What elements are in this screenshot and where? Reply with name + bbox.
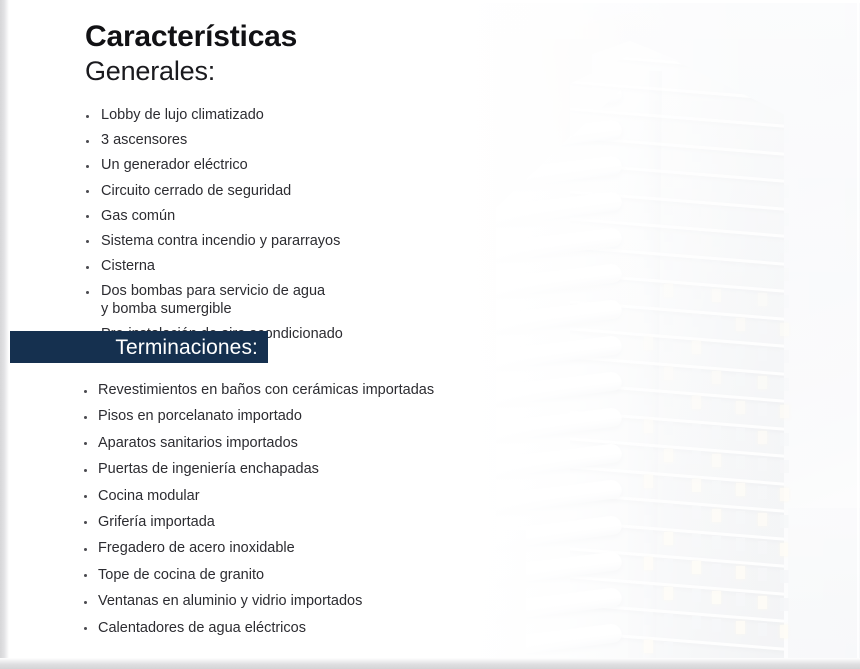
finish-item: Revestimientos en baños con cerámicas im… (84, 382, 514, 399)
general-feature-item: Dos bombas para servicio de aguay bomba … (86, 283, 506, 318)
bullet-dot-icon (84, 469, 87, 472)
bullet-dot-icon (86, 115, 89, 118)
general-feature-label: 3 ascensores (101, 132, 506, 150)
content-column: Características Generales: Lobby de lujo… (0, 0, 540, 669)
finish-label: Pisos en porcelanato importado (98, 408, 514, 425)
bullet-dot-icon (84, 495, 87, 498)
page-title: Características Generales: (85, 22, 297, 85)
general-feature-item: Un generador eléctrico (86, 157, 506, 175)
general-feature-label: Dos bombas para servicio de aguay bomba … (101, 283, 506, 318)
finish-item: Calentadores de agua eléctricos (84, 620, 514, 637)
bullet-dot-icon (84, 442, 87, 445)
finish-label: Revestimientos en baños con cerámicas im… (98, 382, 514, 399)
finish-label: Calentadores de agua eléctricos (98, 620, 514, 637)
finish-item: Aparatos sanitarios importados (84, 435, 514, 452)
slide-edge-top (0, 0, 860, 3)
brochure-slide: Características Generales: Lobby de lujo… (0, 0, 860, 669)
general-feature-item: Lobby de lujo climatizado (86, 107, 506, 125)
bullet-dot-icon (84, 627, 87, 630)
bullet-dot-icon (84, 521, 87, 524)
finish-item: Tope de cocina de granito (84, 567, 514, 584)
finish-item: Cocina modular (84, 488, 514, 505)
bullet-dot-icon (84, 548, 87, 551)
general-feature-item: 3 ascensores (86, 132, 506, 150)
slide-edge-left (0, 0, 9, 669)
bullet-dot-icon (84, 601, 87, 604)
bullet-dot-icon (86, 140, 89, 143)
finishes-section-banner: Terminaciones: (10, 331, 268, 363)
finish-label: Cocina modular (98, 488, 514, 505)
general-feature-label: Cisterna (101, 258, 506, 276)
bullet-dot-icon (84, 390, 87, 393)
finish-item: Pisos en porcelanato importado (84, 408, 514, 425)
general-feature-item: Sistema contra incendio y pararrayos (86, 233, 506, 251)
page-title-line-2: Generales: (85, 58, 297, 85)
bullet-dot-icon (86, 190, 89, 193)
finish-item: Grifería importada (84, 514, 514, 531)
general-feature-label: Lobby de lujo climatizado (101, 107, 506, 125)
finish-label: Fregadero de acero inoxidable (98, 540, 514, 557)
general-feature-label: Sistema contra incendio y pararrayos (101, 233, 506, 251)
general-feature-label: Circuito cerrado de seguridad (101, 183, 506, 201)
finish-item: Ventanas en aluminio y vidrio importados (84, 593, 514, 610)
bullet-dot-icon (84, 416, 87, 419)
finish-label: Tope de cocina de granito (98, 567, 514, 584)
finish-item: Puertas de ingeniería enchapadas (84, 461, 514, 478)
bullet-dot-icon (86, 215, 89, 218)
page-title-line-1: Características (85, 22, 297, 52)
general-feature-item: Circuito cerrado de seguridad (86, 183, 506, 201)
image-right-highlight (857, 3, 859, 658)
finish-label: Aparatos sanitarios importados (98, 435, 514, 452)
general-features-list: Lobby de lujo climatizado3 ascensoresUn … (86, 107, 506, 351)
bullet-dot-icon (84, 574, 87, 577)
bullet-dot-icon (86, 165, 89, 168)
bullet-dot-icon (86, 291, 89, 294)
finish-item: Fregadero de acero inoxidable (84, 540, 514, 557)
general-feature-item: Gas común (86, 208, 506, 226)
finishes-list: Revestimientos en baños con cerámicas im… (84, 382, 514, 646)
general-feature-label: Gas común (101, 208, 506, 226)
general-feature-label: Un generador eléctrico (101, 157, 506, 175)
general-feature-item: Cisterna (86, 258, 506, 276)
finish-label: Ventanas en aluminio y vidrio importados (98, 593, 514, 610)
bullet-dot-icon (86, 240, 89, 243)
finishes-section-label: Terminaciones: (115, 337, 268, 358)
finish-label: Grifería importada (98, 514, 514, 531)
slide-edge-bottom (0, 658, 860, 669)
finish-label: Puertas de ingeniería enchapadas (98, 461, 514, 478)
bullet-dot-icon (86, 266, 89, 269)
